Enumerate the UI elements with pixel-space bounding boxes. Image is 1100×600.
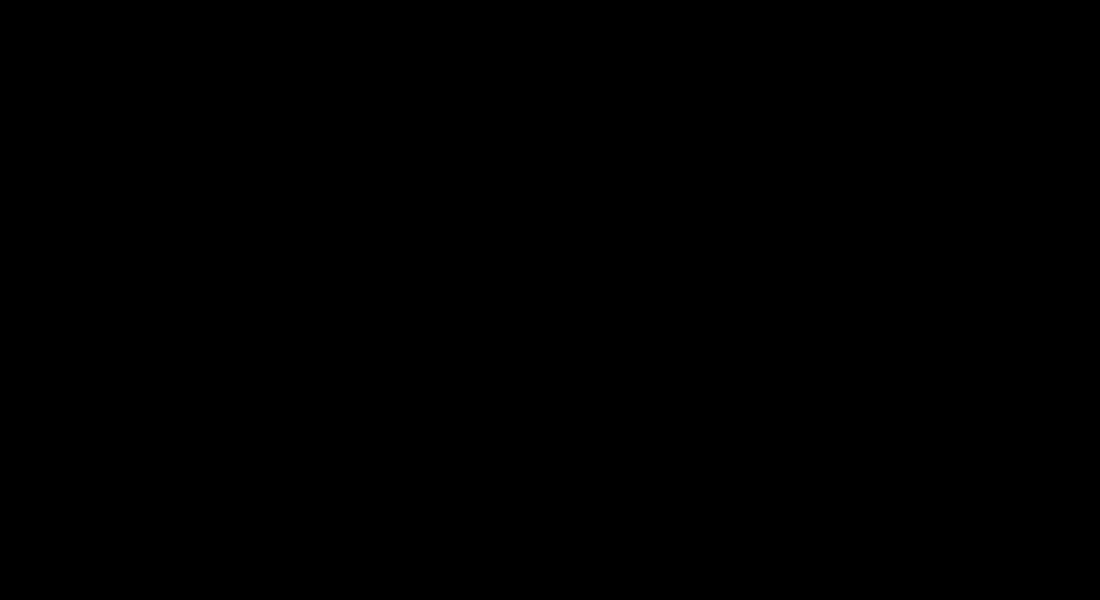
world-map [0,0,1100,600]
map-figure [0,0,1100,600]
